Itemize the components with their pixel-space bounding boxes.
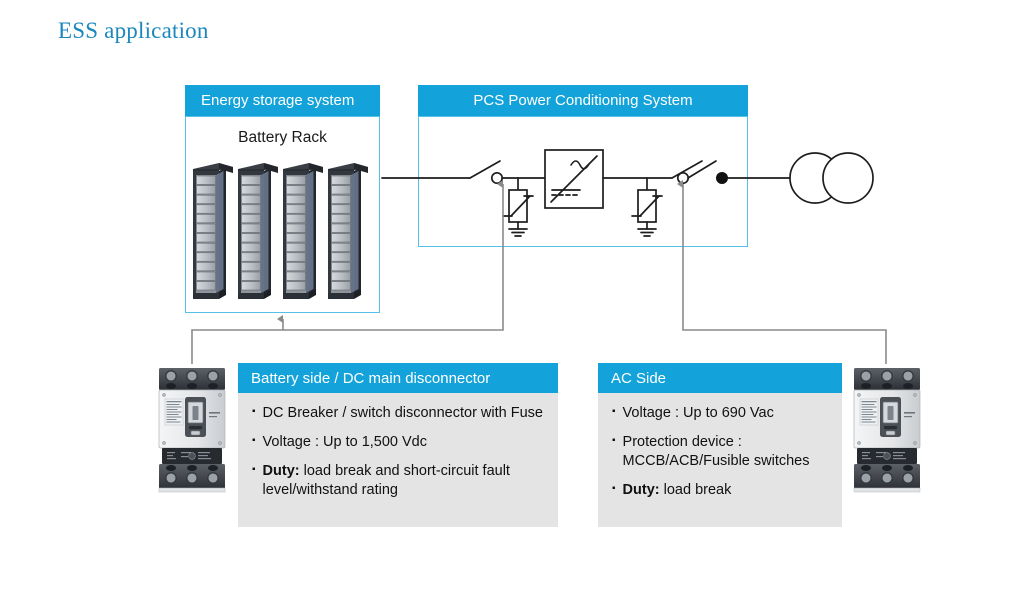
card-battery-side: Battery side / DC main disconnector ▪ DC… [238, 363, 558, 527]
card-ac-side-header: AC Side [598, 363, 842, 393]
bullet-square-icon: ▪ [612, 481, 616, 498]
list-item-lead: Duty: [263, 463, 300, 479]
list-item-text: DC Breaker / switch disconnector with Fu… [263, 405, 543, 421]
ess-panel-header: Energy storage system [185, 85, 380, 116]
list-item-text: load break and short-circuit fault level… [263, 463, 510, 498]
bullet-square-icon: ▪ [612, 404, 616, 421]
transformer-primary-winding [790, 153, 840, 203]
list-item: ▪ Duty: load break and short-circuit fau… [252, 462, 546, 500]
bullet-square-icon: ▪ [252, 433, 256, 450]
list-item: ▪ Voltage : Up to 690 Vac [612, 404, 830, 423]
list-item: ▪ Duty: load break [612, 481, 830, 500]
mccb-left-image [156, 364, 228, 497]
mccb-right-image [851, 364, 923, 497]
pcs-panel-header: PCS Power Conditioning System [418, 85, 748, 116]
bullet-square-icon: ▪ [252, 404, 256, 421]
battery-rack-label: Battery Rack [185, 129, 380, 147]
list-item-text: Protection device : MCCB/ACB/Fusible swi… [623, 434, 810, 469]
list-item-text: load break [660, 482, 732, 498]
bullet-square-icon: ▪ [612, 433, 616, 450]
transformer-secondary-winding [823, 153, 873, 203]
connector-breaker-to-battery-rack [192, 319, 283, 364]
list-item-text: Voltage : Up to 1,500 Vdc [263, 434, 427, 450]
card-battery-side-body: ▪ DC Breaker / switch disconnector with … [238, 393, 558, 527]
list-item: ▪ Voltage : Up to 1,500 Vdc [252, 433, 546, 452]
card-ac-side-body: ▪ Voltage : Up to 690 Vac ▪ Protection d… [598, 393, 842, 527]
list-item: ▪ Protection device : MCCB/ACB/Fusible s… [612, 433, 830, 471]
list-item: ▪ DC Breaker / switch disconnector with … [252, 404, 546, 423]
pcs-panel-body [418, 116, 748, 247]
card-battery-side-header: Battery side / DC main disconnector [238, 363, 558, 393]
battery-rack-array-icon [190, 155, 375, 310]
slide-canvas: ESS application Energy storage system Ba… [0, 0, 1021, 612]
page-title: ESS application [58, 18, 209, 44]
bullet-square-icon: ▪ [252, 462, 256, 479]
list-item-text: Voltage : Up to 690 Vac [623, 405, 774, 421]
panel-pcs: PCS Power Conditioning System [418, 85, 748, 247]
card-ac-side: AC Side ▪ Voltage : Up to 690 Vac ▪ Prot… [598, 363, 842, 527]
list-item-lead: Duty: [623, 482, 660, 498]
